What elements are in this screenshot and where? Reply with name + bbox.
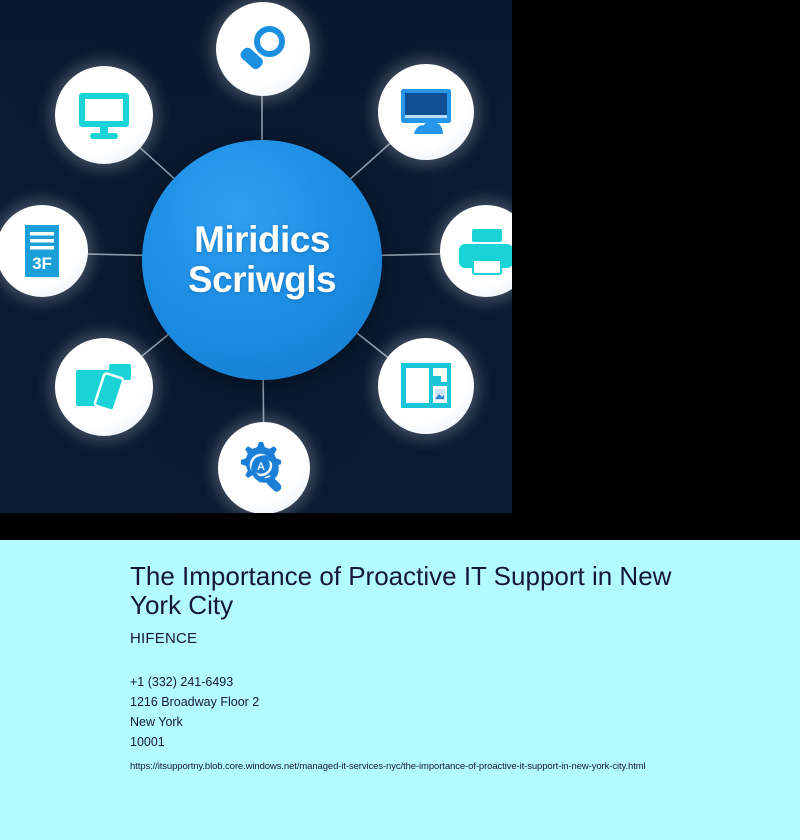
svg-text:3F: 3F bbox=[32, 254, 52, 273]
contact-zip: 10001 bbox=[130, 732, 760, 752]
dashboard-panel-icon bbox=[397, 359, 455, 413]
node-magnifier bbox=[216, 2, 310, 96]
node-reporting bbox=[378, 338, 474, 434]
folder-devices-icon bbox=[73, 360, 135, 414]
hero-image: 3F A bbox=[0, 0, 512, 513]
contact-phone: +1 (332) 241-6493 bbox=[130, 672, 760, 692]
center-hub-line2: Scriwgls bbox=[188, 260, 336, 300]
page-title: The Importance of Proactive IT Support i… bbox=[130, 562, 710, 621]
center-hub: Miridics Scriwgls bbox=[142, 140, 382, 380]
contact-street: 1216 Broadway Floor 2 bbox=[130, 692, 760, 712]
laptop-monitor-icon bbox=[74, 87, 134, 143]
center-hub-line1: Miridics bbox=[194, 220, 330, 260]
node-workstation bbox=[55, 66, 153, 164]
contact-block: +1 (332) 241-6493 1216 Broadway Floor 2 … bbox=[130, 672, 760, 752]
brand-name: HIFENCE bbox=[130, 630, 760, 647]
gear-magnifier-icon: A bbox=[235, 439, 293, 497]
node-documentation: 3F bbox=[0, 205, 88, 297]
contact-city: New York bbox=[130, 712, 760, 732]
svg-text:A: A bbox=[257, 461, 265, 473]
node-asset-management bbox=[55, 338, 153, 436]
source-url[interactable]: https://itsupportny.blob.core.windows.ne… bbox=[130, 761, 760, 772]
desktop-cloud-icon bbox=[396, 84, 456, 140]
info-panel: The Importance of Proactive IT Support i… bbox=[0, 540, 800, 840]
node-cloud-desktop bbox=[378, 64, 474, 160]
node-diagnostics: A bbox=[218, 422, 310, 513]
document-server-icon: 3F bbox=[17, 222, 67, 280]
printer-icon bbox=[457, 224, 512, 278]
magnifier-icon bbox=[235, 21, 291, 77]
